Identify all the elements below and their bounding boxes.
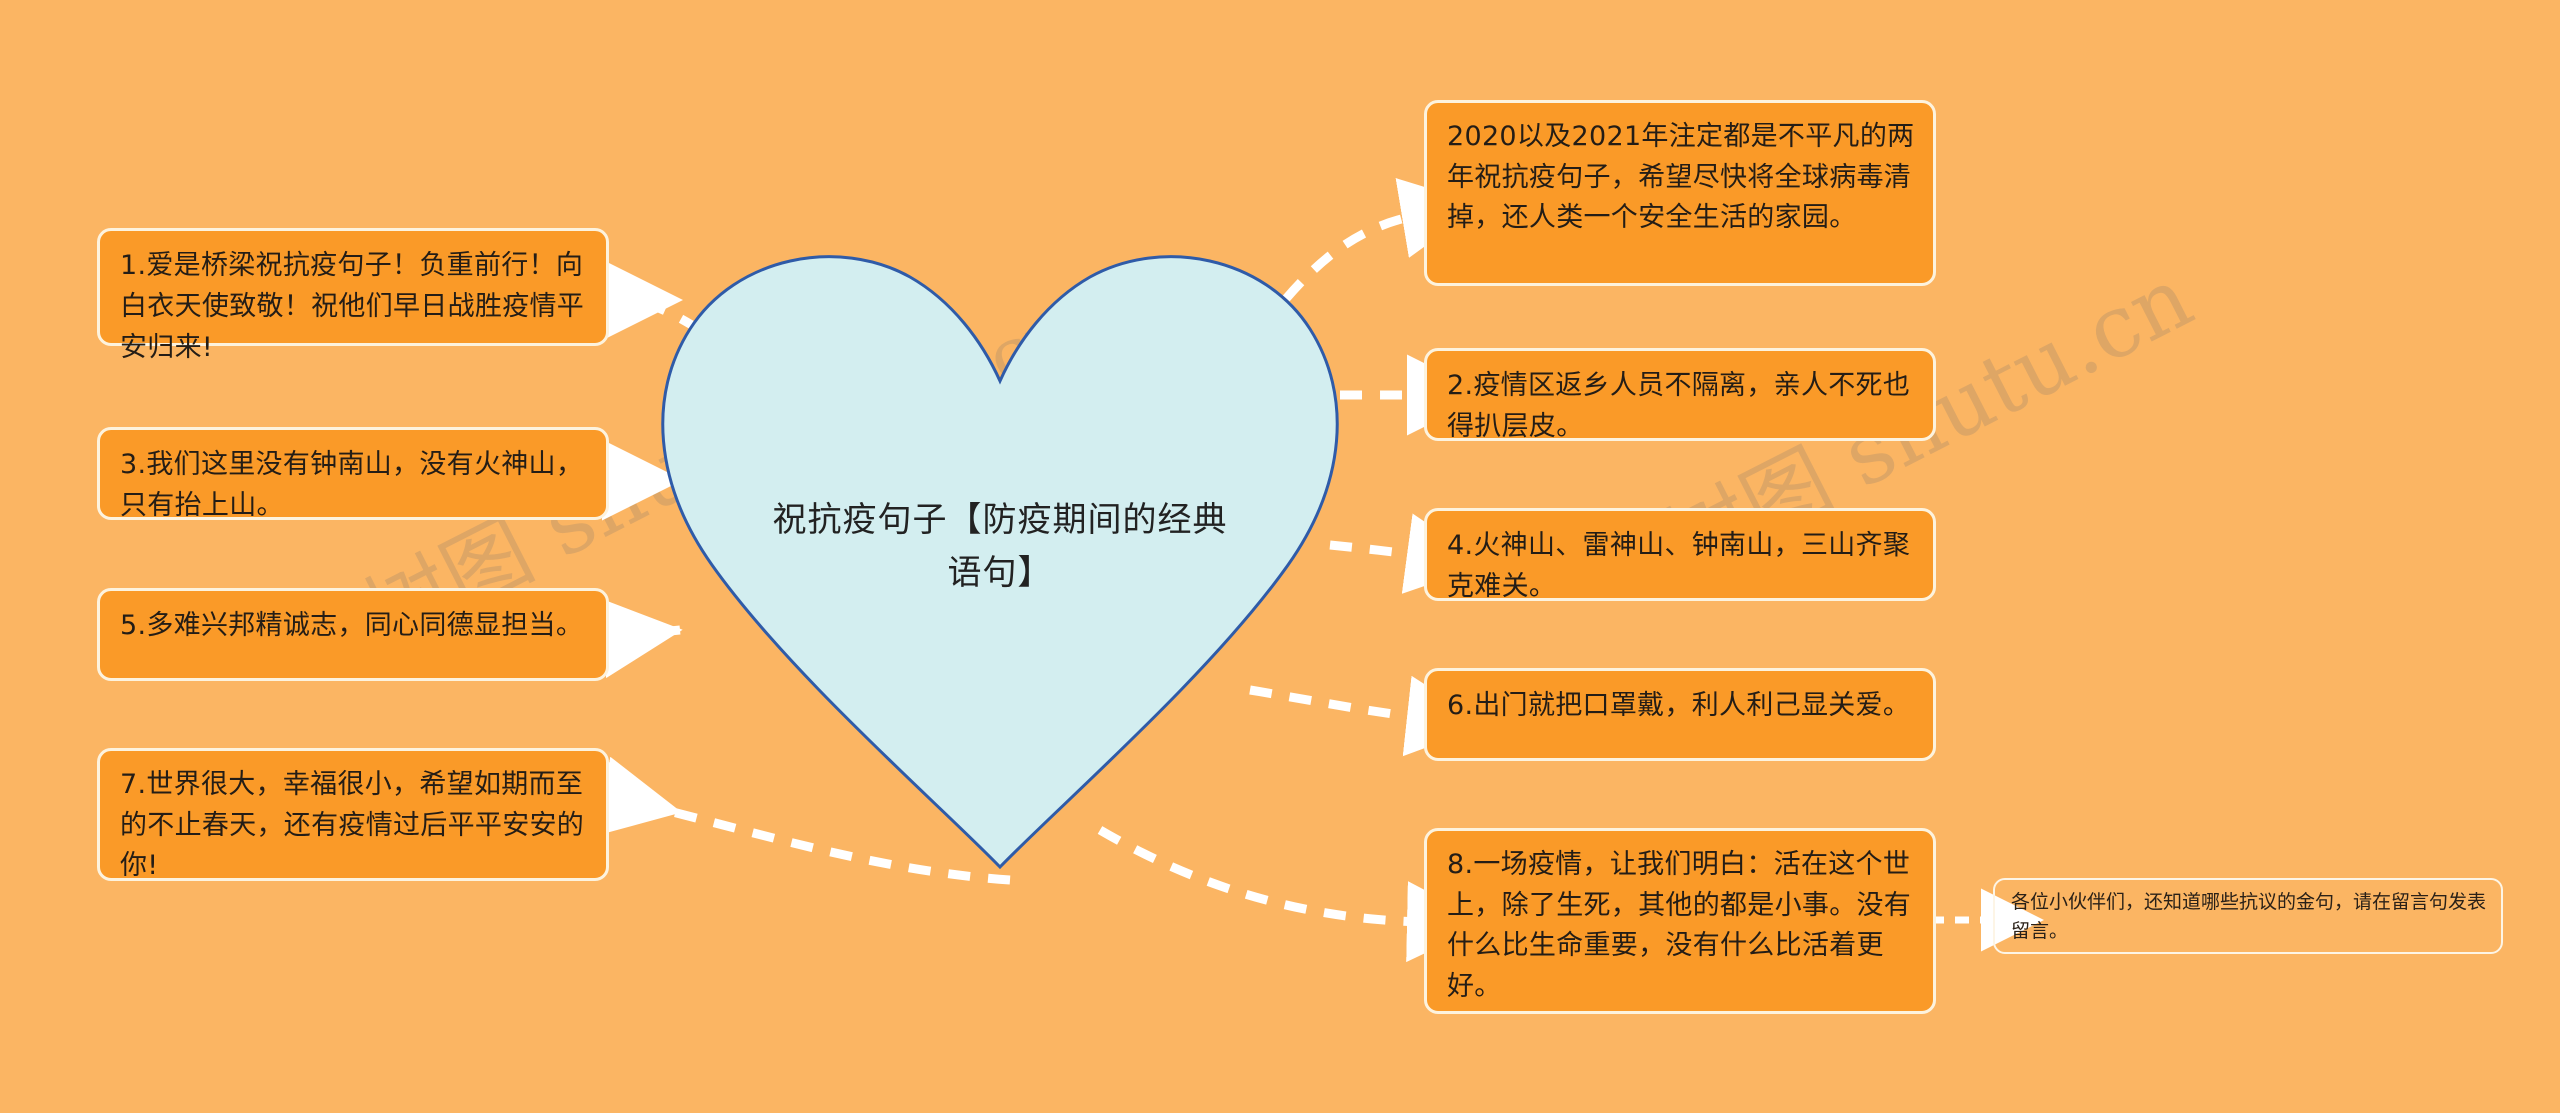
note-text: 2020以及2021年注定都是不平凡的两年祝抗疫句子，希望尽快将全球病毒清掉，还… xyxy=(1447,121,1914,233)
center-topic: 祝抗疫句子【防疫期间的经典语句】 xyxy=(640,205,1360,895)
note-card-6[interactable]: 6.出门就把口罩戴，利人利己显关爱。 xyxy=(1424,668,1936,761)
note-text: 6.出门就把口罩戴，利人利己显关爱。 xyxy=(1447,690,1910,721)
note-text: 7.世界很大，幸福很小，希望如期而至的不止春天，还有疫情过后平平安安的你! xyxy=(120,769,584,881)
center-topic-label: 祝抗疫句子【防疫期间的经典语句】 xyxy=(765,494,1235,599)
note-text: 5.多难兴邦精诚志，同心同德显担当。 xyxy=(120,610,583,641)
note-card-1[interactable]: 1.爱是桥梁祝抗疫句子！负重前行！向白衣天使致敬！祝他们早日战胜疫情平安归来! xyxy=(97,228,609,346)
note-card-0[interactable]: 2020以及2021年注定都是不平凡的两年祝抗疫句子，希望尽快将全球病毒清掉，还… xyxy=(1424,100,1936,286)
note-card-3[interactable]: 3.我们这里没有钟南山，没有火神山，只有抬上山。 xyxy=(97,427,609,520)
note-card-5[interactable]: 5.多难兴邦精诚志，同心同德显担当。 xyxy=(97,588,609,681)
note-text: 1.爱是桥梁祝抗疫句子！负重前行！向白衣天使致敬！祝他们早日战胜疫情平安归来! xyxy=(120,250,584,363)
note-text: 8.一场疫情，让我们明白：活在这个世上，除了生死，其他的都是小事。没有什么比生命… xyxy=(1447,849,1911,1002)
note-card-4[interactable]: 4.火神山、雷神山、钟南山，三山齐聚克难关。 xyxy=(1424,508,1936,601)
note-text: 3.我们这里没有钟南山，没有火神山，只有抬上山。 xyxy=(120,449,583,521)
comment-prompt-card[interactable]: 各位小伙伴们，还知道哪些抗议的金句，请在留言句发表留言。 xyxy=(1993,878,2503,954)
note-card-7[interactable]: 7.世界很大，幸福很小，希望如期而至的不止春天，还有疫情过后平平安安的你! xyxy=(97,748,609,881)
note-card-2[interactable]: 2.疫情区返乡人员不隔离，亲人不死也得扒层皮。 xyxy=(1424,348,1936,441)
note-card-8[interactable]: 8.一场疫情，让我们明白：活在这个世上，除了生死，其他的都是小事。没有什么比生命… xyxy=(1424,828,1936,1014)
central-heart: 祝抗疫句子【防疫期间的经典语句】 xyxy=(640,205,1360,895)
mindmap-canvas: 树图 shutu.cn shutu.cn 树图 shutu.cn xyxy=(0,0,2560,1113)
note-text: 2.疫情区返乡人员不隔离，亲人不死也得扒层皮。 xyxy=(1447,370,1910,442)
note-text: 4.火神山、雷神山、钟南山，三山齐聚克难关。 xyxy=(1447,530,1910,602)
comment-prompt-text: 各位小伙伴们，还知道哪些抗议的金句，请在留言句发表留言。 xyxy=(2011,891,2486,942)
